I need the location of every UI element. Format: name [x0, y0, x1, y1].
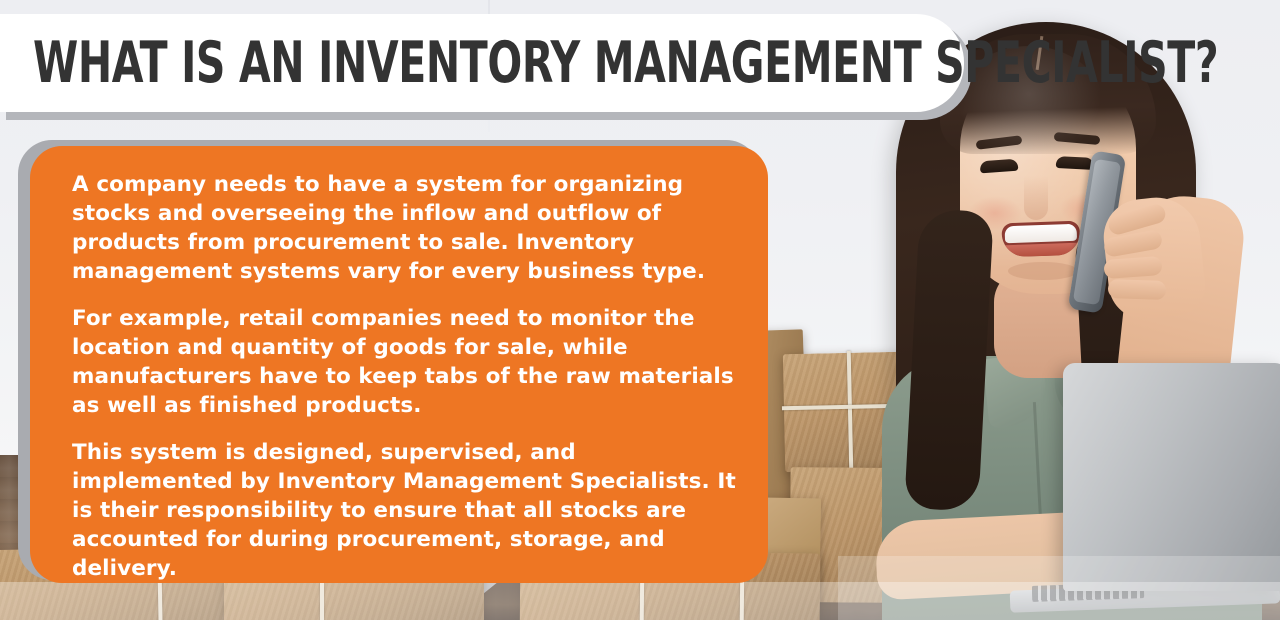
header-banner: WHAT IS AN INVENTORY MANAGEMENT SPECIALI…	[0, 14, 964, 112]
paragraph-1: A company needs to have a system for org…	[72, 170, 738, 286]
parcel-twine	[847, 351, 854, 473]
smiling-mouth	[1001, 221, 1080, 258]
bottom-overlay-right	[838, 556, 1280, 620]
chin-shadow	[1008, 262, 1078, 280]
infographic-canvas: WHAT IS AN INVENTORY MANAGEMENT SPECIALI…	[0, 0, 1280, 620]
content-card-body: A company needs to have a system for org…	[42, 170, 738, 583]
teeth	[1005, 224, 1078, 244]
nose	[1024, 176, 1048, 220]
content-card: A company needs to have a system for org…	[30, 146, 768, 583]
hair-strand-left	[904, 208, 994, 511]
finger	[1108, 279, 1167, 300]
page-title: WHAT IS AN INVENTORY MANAGEMENT SPECIALI…	[33, 35, 1218, 92]
paragraph-2: For example, retail companies need to mo…	[72, 304, 738, 420]
paragraph-3: This system is designed, supervised, and…	[72, 438, 738, 583]
finger	[1103, 256, 1162, 279]
